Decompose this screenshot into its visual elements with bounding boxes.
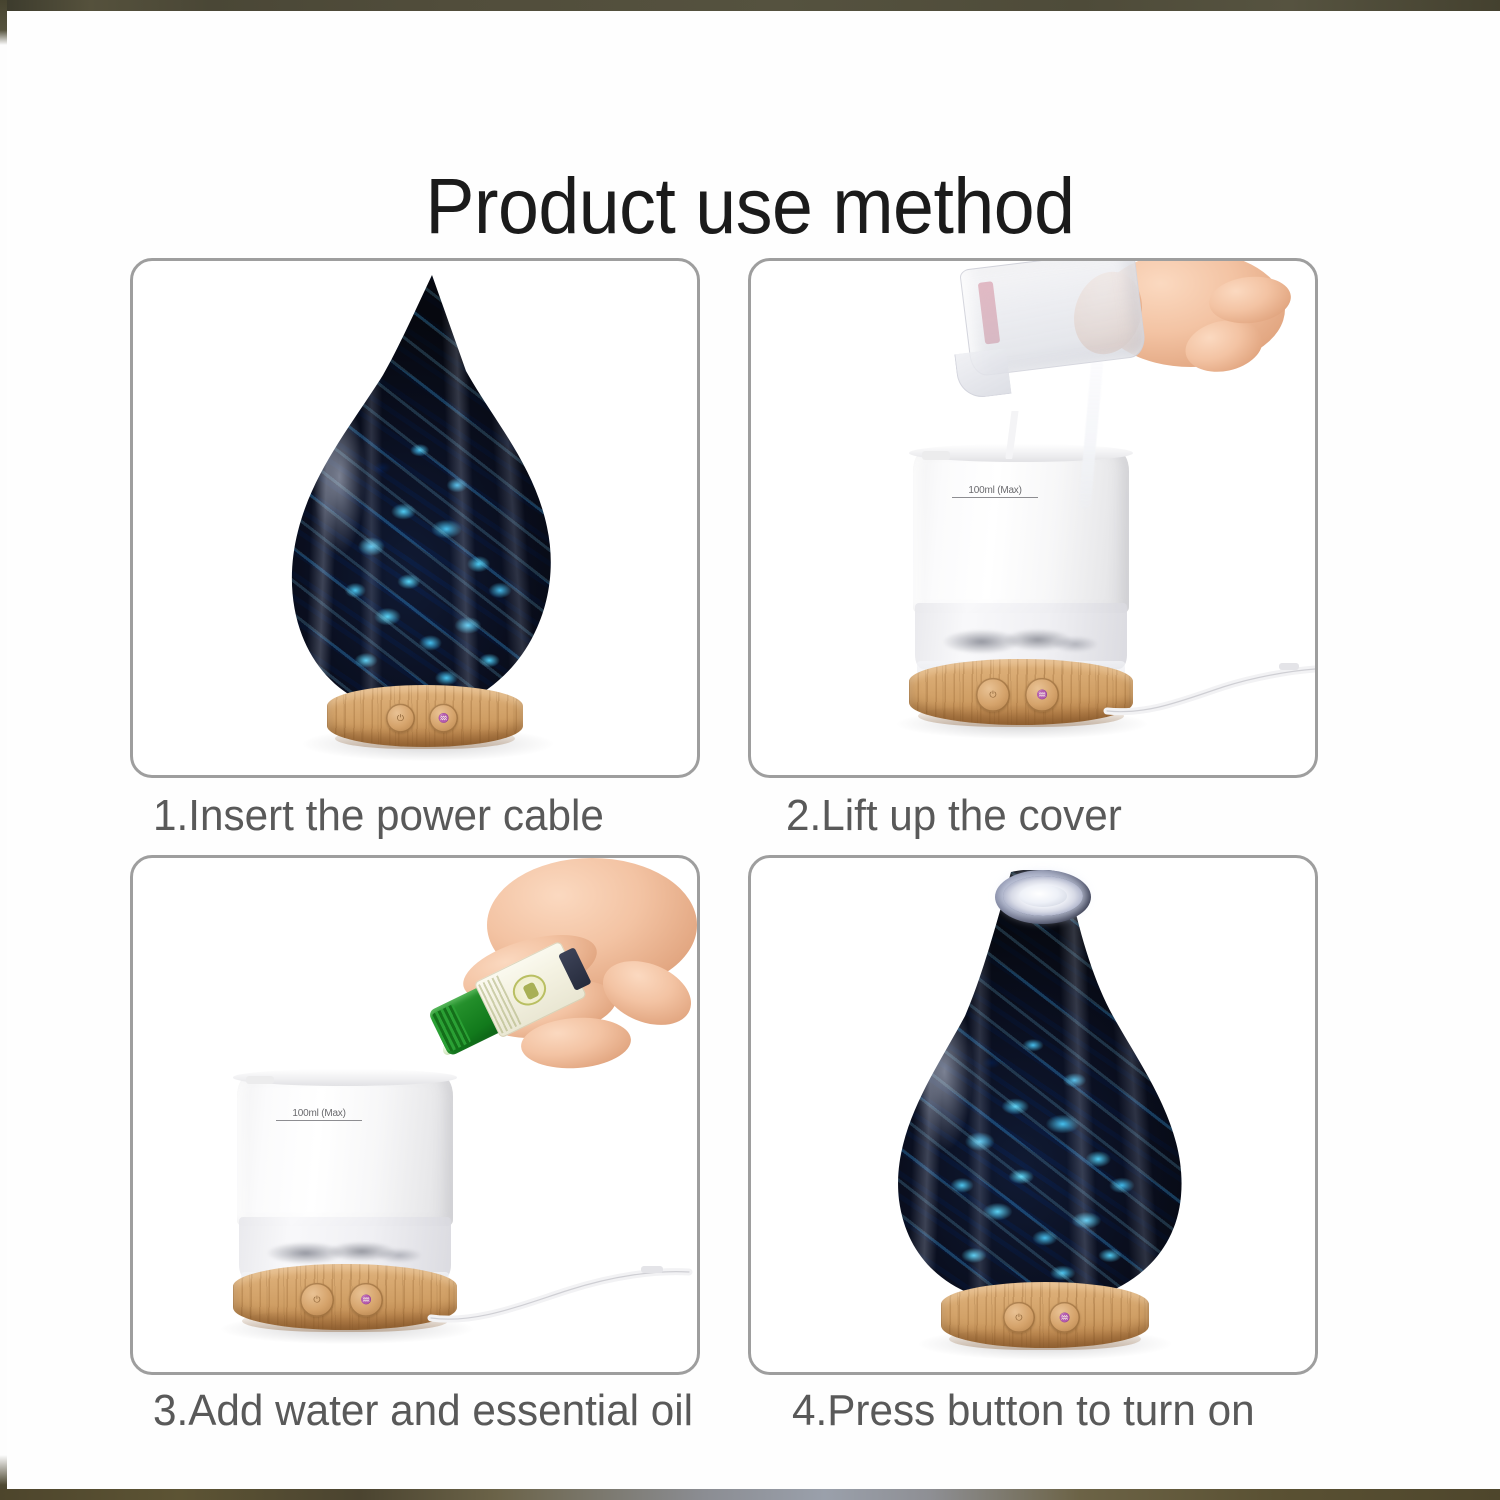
base-rim	[242, 1310, 448, 1332]
mist-icon: ♒	[1059, 1313, 1070, 1322]
tank-upper-shell: 100ml (Max)	[913, 449, 1129, 613]
left-edge-strip	[0, 0, 7, 1500]
mist-icon: ♒	[361, 1295, 372, 1304]
tank-upper-shell: 100ml (Max)	[237, 1074, 453, 1226]
hand-adding-oil	[395, 868, 700, 1092]
cup-spout	[954, 348, 1011, 400]
tank-max-fill-label: 100ml (Max)	[276, 1108, 362, 1121]
tank-max-fill-text: 100ml (Max)	[292, 1108, 345, 1119]
glass-body	[291, 275, 559, 713]
glass-body	[891, 870, 1187, 1308]
infographic-canvas: Product use method ⏻ ♒	[0, 0, 1500, 1500]
tank-notch	[246, 1076, 274, 1084]
step-panel-3: 100ml (Max) ⏻ ♒	[130, 855, 700, 1375]
base-rim	[949, 1328, 1140, 1350]
page-title: Product use method	[53, 158, 1448, 254]
mist-outlet-light	[1003, 876, 1083, 916]
base-rim	[918, 705, 1124, 727]
tank-notch	[922, 451, 950, 459]
wooden-base-holder: ⏻ ♒	[233, 1264, 457, 1330]
wooden-base-holder: ⏻ ♒	[909, 659, 1133, 725]
hand-pouring-water	[947, 258, 1279, 451]
power-icon: ⏻	[1015, 1313, 1022, 1322]
tank-internal-components	[265, 1238, 422, 1266]
cup-graduation-mark	[978, 281, 1000, 344]
step-panel-2: 100ml (Max) ⏻ ♒	[748, 258, 1318, 778]
tank-max-fill-rule	[276, 1120, 362, 1121]
glass-diffuser-pointed: ⏻ ♒	[291, 275, 559, 747]
power-icon: ⏻	[989, 690, 996, 699]
power-icon: ⏻	[313, 1295, 320, 1304]
wooden-base: ⏻ ♒	[941, 1282, 1149, 1348]
label-emblem	[508, 969, 552, 1011]
tank-max-fill-text: 100ml (Max)	[968, 485, 1021, 496]
top-edge-strip	[0, 0, 1500, 11]
step-panel-1: ⏻ ♒	[130, 258, 700, 778]
measuring-cup	[959, 258, 1147, 377]
mist-icon: ♒	[1037, 690, 1048, 699]
bottom-edge-strip	[0, 1489, 1500, 1500]
base-rim	[335, 728, 515, 749]
step-caption-2: 2.Lift up the cover	[786, 790, 1122, 842]
step-caption-3: 3.Add water and essential oil	[153, 1385, 693, 1437]
tank-internal-components	[941, 625, 1098, 656]
mist-icon: ♒	[438, 714, 449, 723]
tank-max-fill-rule	[952, 497, 1038, 498]
step-caption-1: 1.Insert the power cable	[153, 790, 604, 842]
power-icon: ⏻	[397, 714, 404, 723]
tank-max-fill-label: 100ml (Max)	[952, 485, 1038, 498]
step-panel-4: ⏻ ♒	[748, 855, 1318, 1375]
glass-diffuser-powered: ⏻ ♒	[891, 870, 1187, 1348]
wooden-base: ⏻ ♒	[327, 685, 523, 747]
step-caption-4: 4.Press button to turn on	[792, 1385, 1255, 1437]
